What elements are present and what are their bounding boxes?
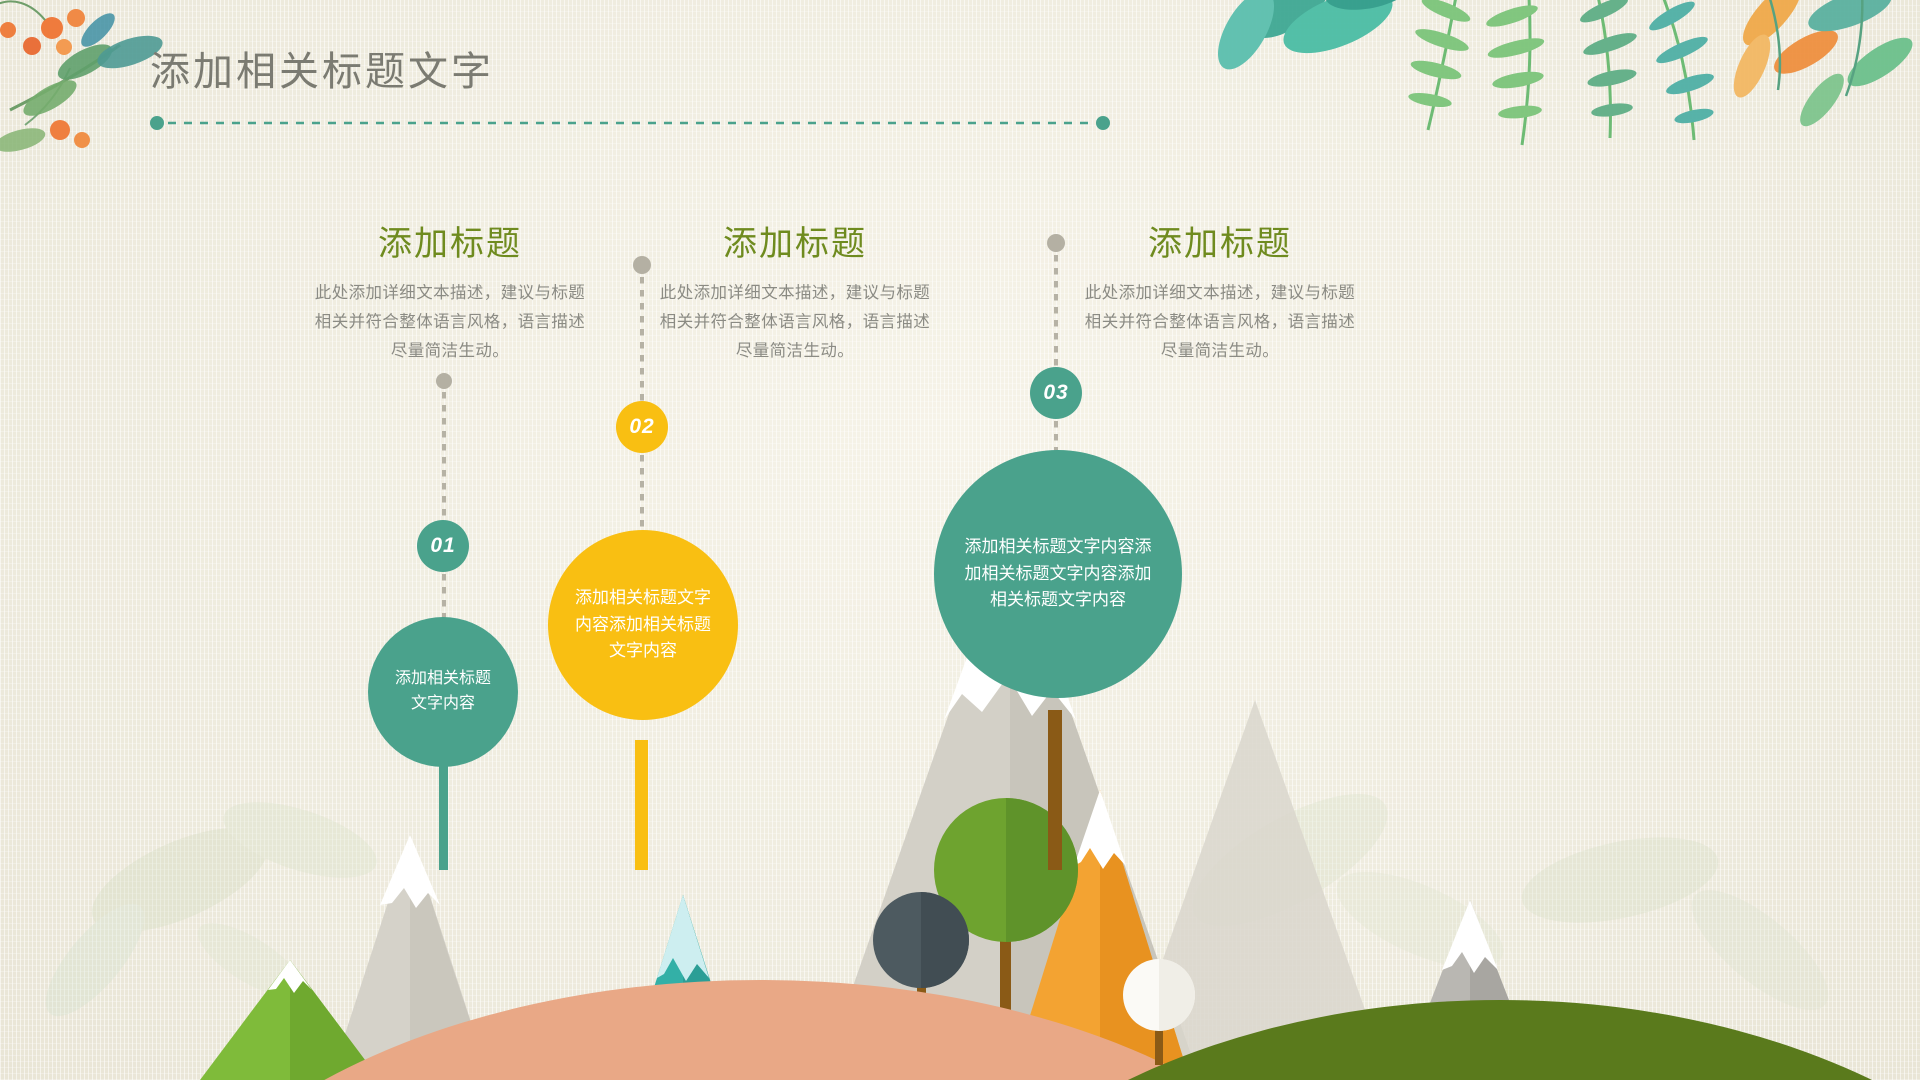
title-underline-rule xyxy=(150,116,1110,130)
bubble-1-text: 添加相关标题文字内容 xyxy=(394,667,492,717)
badge-03-label: 03 xyxy=(1043,381,1068,405)
connector-2-dash-lower xyxy=(640,455,644,530)
header: 添加相关标题文字 xyxy=(150,48,1150,96)
rule-dot-left xyxy=(150,116,164,130)
connector-2-top-dot xyxy=(633,256,651,274)
column-1-title: 添加标题 xyxy=(310,224,590,265)
bubble-2-trunk xyxy=(635,740,648,870)
badge-01[interactable]: 01 xyxy=(417,520,469,572)
bubble-3-text: 添加相关标题文字内容添加相关标题文字内容添加相关标题文字内容 xyxy=(960,534,1156,613)
badge-03[interactable]: 03 xyxy=(1030,367,1082,419)
badge-02[interactable]: 02 xyxy=(616,401,668,453)
bubble-3-trunk xyxy=(1048,710,1062,870)
badge-01-label: 01 xyxy=(430,534,455,558)
bubble-2[interactable]: 添加相关标题文字内容添加相关标题文字内容 xyxy=(548,530,738,720)
connector-3-top-dot xyxy=(1047,234,1065,252)
rule-dot-right xyxy=(1096,116,1110,130)
slide-canvas: 添加相关标题文字 添加标题 此处添加详细文本描述，建议与标题相关并符合整体语言风… xyxy=(0,0,1920,1080)
column-3: 添加标题 此处添加详细文本描述，建议与标题相关并符合整体语言风格，语言描述尽量简… xyxy=(1080,224,1360,365)
column-2: 添加标题 此处添加详细文本描述，建议与标题相关并符合整体语言风格，语言描述尽量简… xyxy=(655,224,935,365)
connector-2-dash-upper xyxy=(640,277,644,402)
bubble-2-text: 添加相关标题文字内容添加相关标题文字内容 xyxy=(574,585,712,664)
bubble-3[interactable]: 添加相关标题文字内容添加相关标题文字内容添加相关标题文字内容 xyxy=(934,450,1182,698)
column-3-title: 添加标题 xyxy=(1080,224,1360,265)
column-2-title: 添加标题 xyxy=(655,224,935,265)
bubble-1[interactable]: 添加相关标题文字内容 xyxy=(368,617,518,767)
badge-02-label: 02 xyxy=(629,415,654,439)
connector-1-dash-lower xyxy=(442,574,446,618)
connector-1-top-dot xyxy=(436,373,452,389)
connector-1-dash-upper xyxy=(442,392,446,524)
page-title: 添加相关标题文字 xyxy=(150,48,1150,96)
column-1: 添加标题 此处添加详细文本描述，建议与标题相关并符合整体语言风格，语言描述尽量简… xyxy=(310,224,590,365)
column-2-description: 此处添加详细文本描述，建议与标题相关并符合整体语言风格，语言描述尽量简洁生动。 xyxy=(655,279,935,366)
column-1-description: 此处添加详细文本描述，建议与标题相关并符合整体语言风格，语言描述尽量简洁生动。 xyxy=(310,279,590,366)
column-3-description: 此处添加详细文本描述，建议与标题相关并符合整体语言风格，语言描述尽量简洁生动。 xyxy=(1080,279,1360,366)
connector-3-dash-upper xyxy=(1054,255,1058,368)
